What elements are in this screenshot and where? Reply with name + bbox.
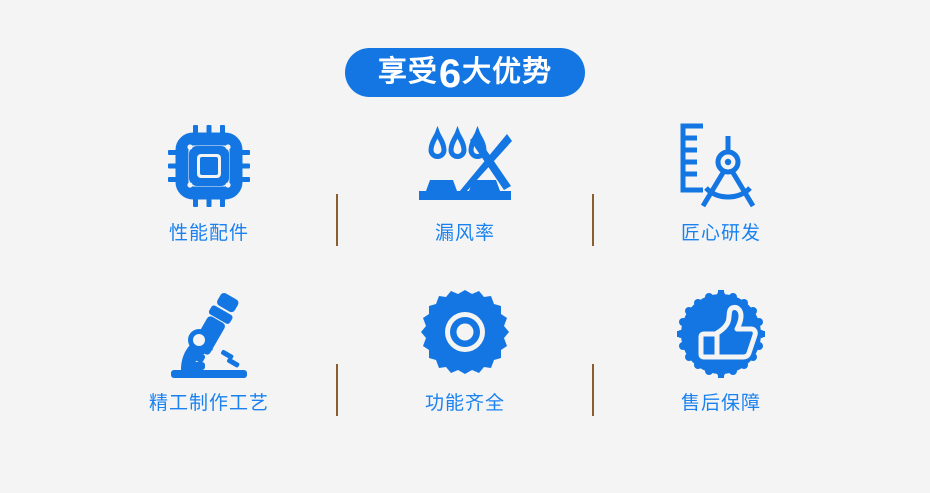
column-divider [336, 364, 338, 416]
feature-label: 功能齐全 [425, 394, 505, 413]
feature-cell-air-leakage[interactable]: 漏风率 [359, 112, 571, 243]
feature-label: 漏风率 [435, 224, 495, 243]
headline-prefix: 享受 [378, 58, 438, 87]
feature-label: 匠心研发 [681, 224, 761, 243]
feature-cell-full-function[interactable]: 功能齐全 [359, 282, 571, 413]
headline-number: 6 [438, 54, 462, 94]
water-droplets-repellent-icon [411, 112, 519, 220]
feature-cell-after-sales[interactable]: 售后保障 [615, 282, 827, 413]
thumbs-up-badge-icon [671, 282, 771, 390]
column-divider [592, 194, 594, 246]
features-row: 性能配件 [0, 112, 930, 282]
feature-label: 精工制作工艺 [149, 394, 269, 413]
features-row: 精工制作工艺 功能齐全 [0, 282, 930, 452]
feature-cell-craftsmanship[interactable]: 精工制作工艺 [103, 282, 315, 413]
feature-label: 性能配件 [169, 224, 249, 243]
feature-cell-rnd[interactable]: 匠心研发 [615, 112, 827, 243]
headline-pill: 享受 6 大优势 [345, 48, 585, 97]
ruler-compass-icon [673, 112, 769, 220]
gear-icon [415, 282, 515, 390]
features-grid: 性能配件 [0, 112, 930, 452]
cpu-chip-icon [159, 112, 259, 220]
headline-suffix: 大优势 [462, 58, 552, 87]
microscope-icon [159, 282, 259, 390]
feature-cell-performance-parts[interactable]: 性能配件 [103, 112, 315, 243]
column-divider [592, 364, 594, 416]
headline-banner: 享受 6 大优势 [0, 48, 930, 97]
column-divider [336, 194, 338, 246]
feature-label: 售后保障 [681, 394, 761, 413]
